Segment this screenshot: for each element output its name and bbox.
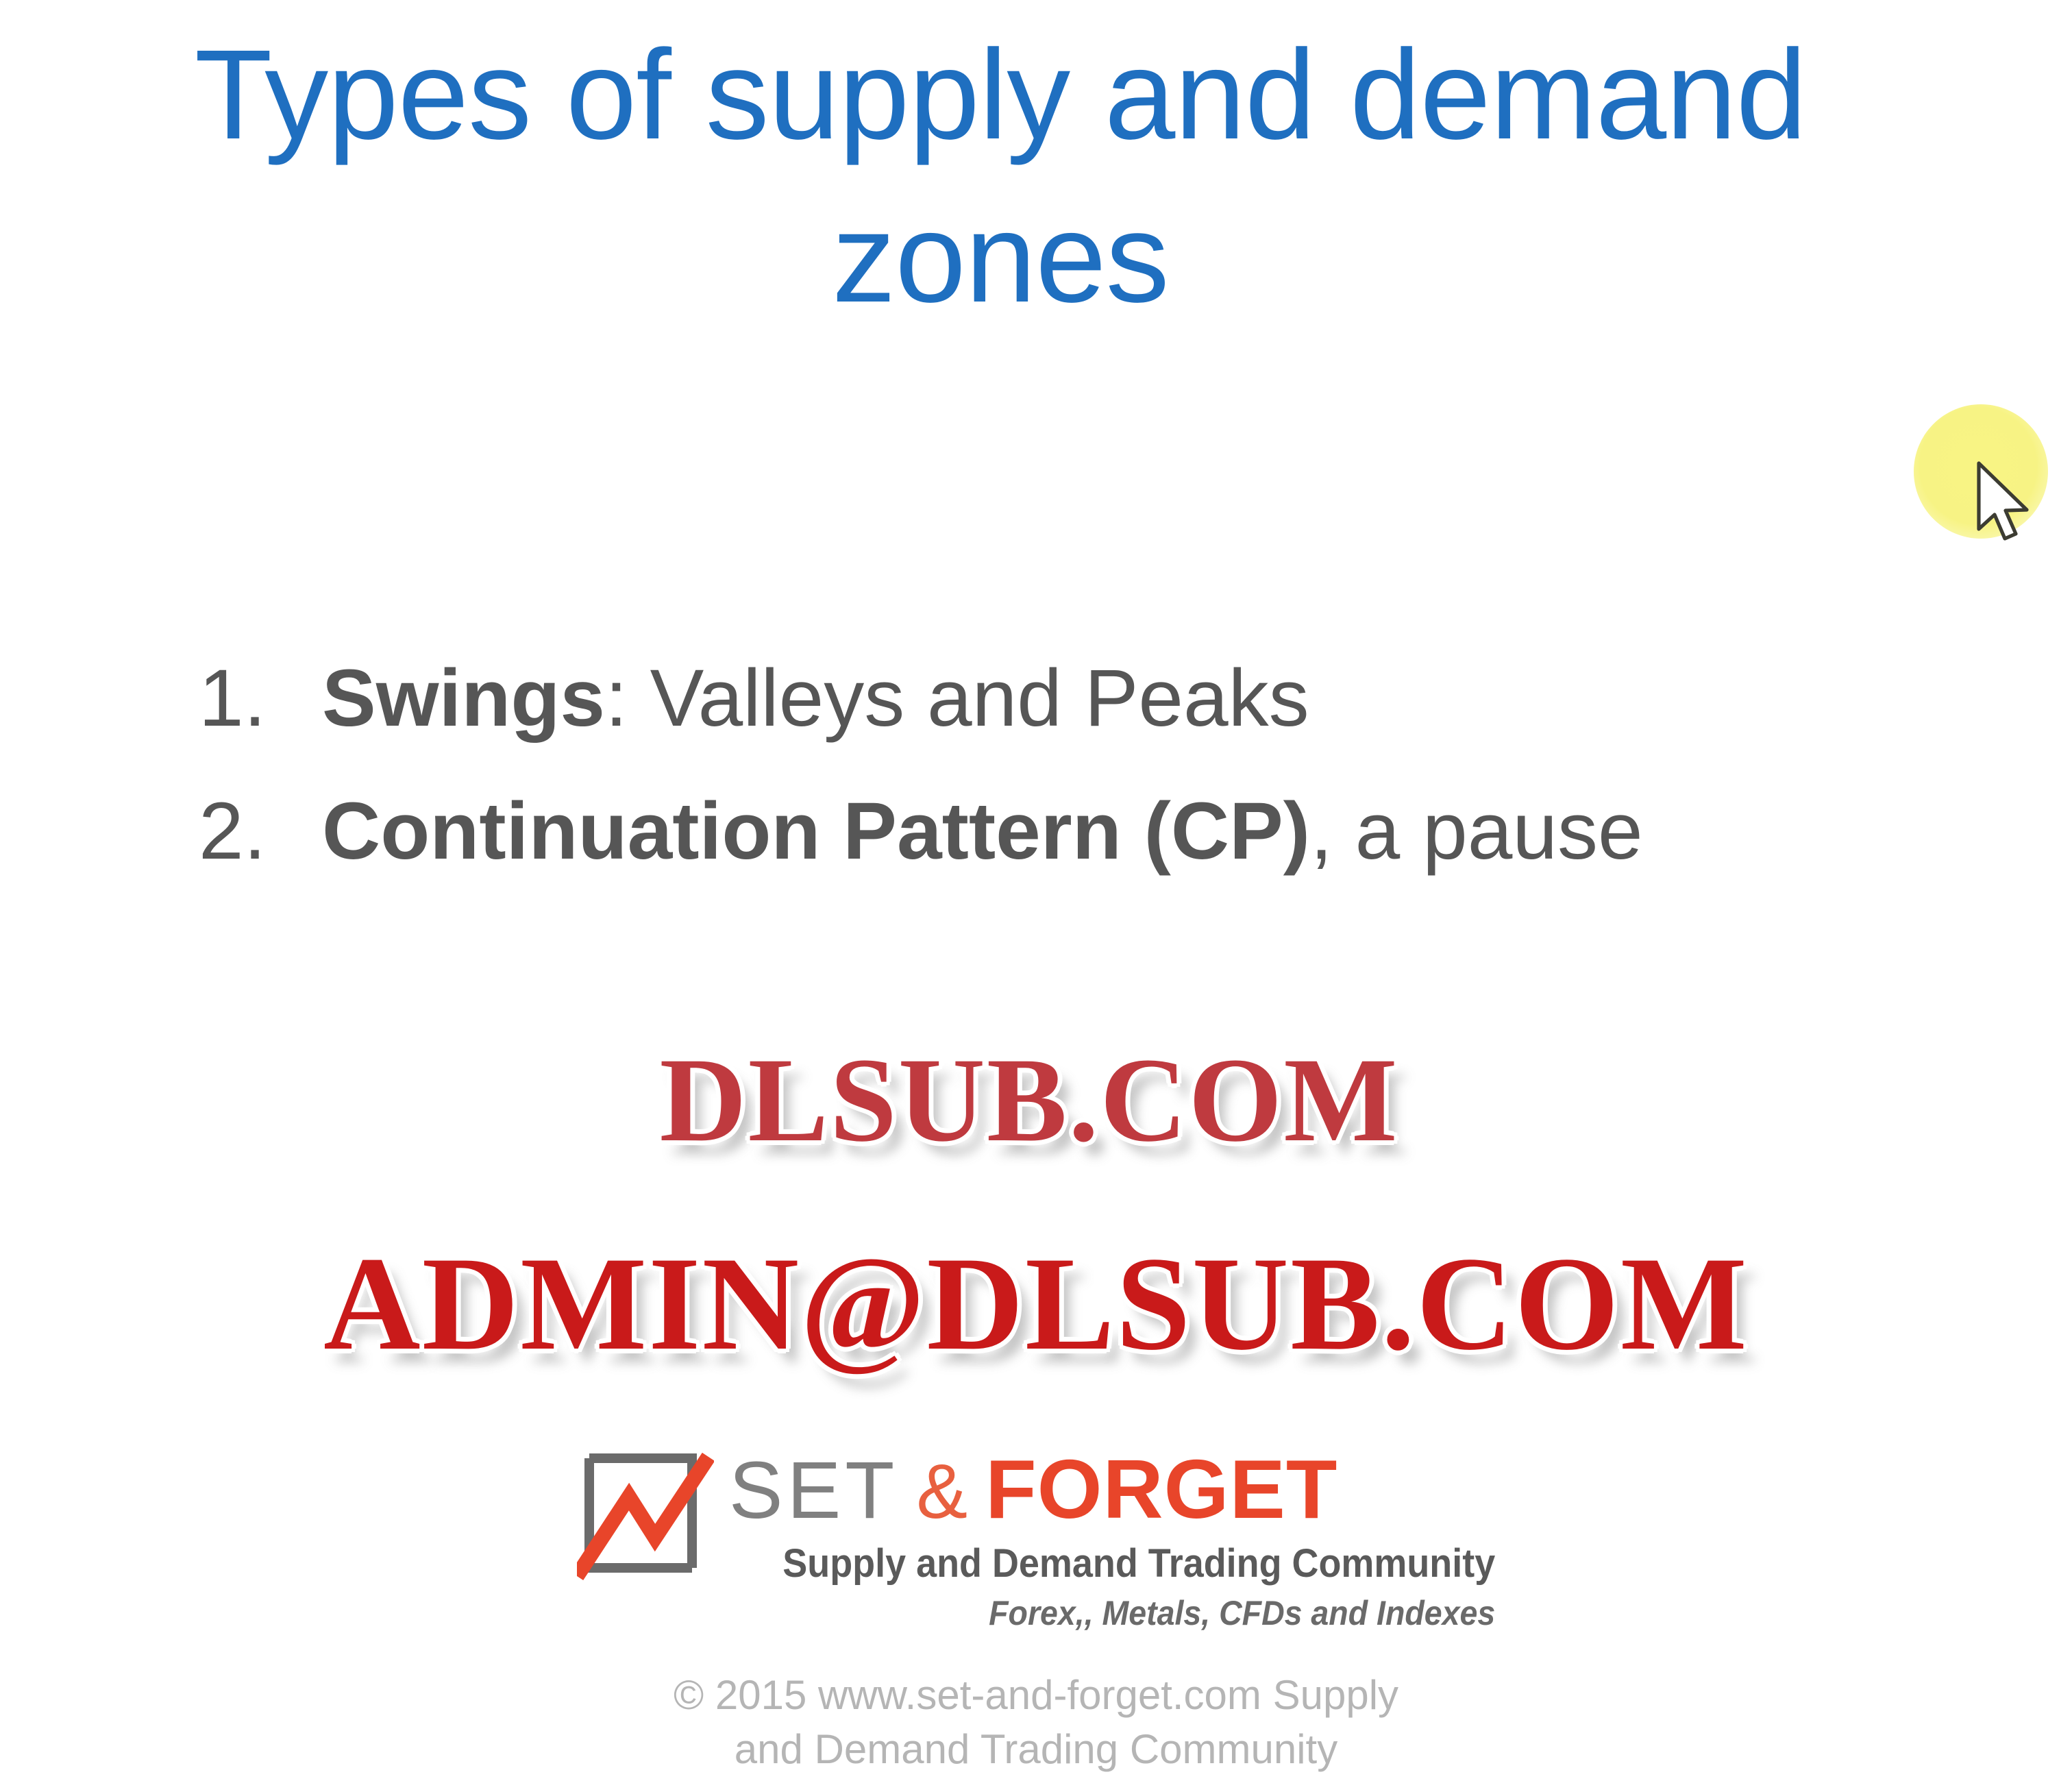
list-item-lead: Swings [322, 653, 605, 744]
logo-subtagline: Forex,, Metals, CFDs and Indexes [782, 1593, 1495, 1633]
logo-word-ampersand: & [916, 1453, 967, 1530]
logo-word-set: SET [729, 1450, 899, 1531]
logo-inner: SET & FORGET Supply and Demand Trading C… [577, 1447, 1495, 1633]
line-chart-icon [577, 1450, 714, 1582]
mouse-pointer-icon [1976, 460, 2039, 544]
list-item-rest: , a pause [1310, 786, 1642, 876]
slide-canvas: Types of supply and demand zones 1. Swin… [0, 0, 2072, 1781]
copyright-footer: © 2015 www.set-and-forget.com Supply and… [0, 1668, 2072, 1776]
list-item-lead: Continuation Pattern (CP) [322, 786, 1310, 876]
logo-wordmark: SET & FORGET [729, 1447, 1495, 1531]
list-item-number: 2. [199, 791, 322, 872]
list-item-text: Continuation Pattern (CP), a pause [322, 791, 1643, 872]
list-item-number: 1. [199, 658, 322, 739]
brand-logo: SET & FORGET Supply and Demand Trading C… [0, 1447, 2072, 1633]
watermark-site: DLSUB.COM [0, 1031, 2065, 1170]
page-title: Types of supply and demand zones [89, 14, 1912, 340]
copyright-line-2: and Demand Trading Community [0, 1722, 2072, 1776]
list-item: 1. Swings: Valleys and Peaks [199, 658, 1980, 739]
watermark-email: ADMIN@DLSUB.COM [0, 1227, 2072, 1381]
logo-word-forget: FORGET [985, 1447, 1337, 1531]
list-item: 2. Continuation Pattern (CP), a pause [199, 791, 1980, 872]
logo-text-block: SET & FORGET Supply and Demand Trading C… [729, 1447, 1495, 1633]
list-item-rest: : Valleys and Peaks [605, 653, 1309, 744]
page-title-line-1: Types of supply and demand [89, 14, 1912, 177]
list-item-text: Swings: Valleys and Peaks [322, 658, 1309, 739]
copyright-line-1: © 2015 www.set-and-forget.com Supply [0, 1668, 2072, 1722]
page-title-line-2: zones [89, 177, 1912, 340]
logo-tagline: Supply and Demand Trading Community [782, 1540, 1495, 1586]
zone-types-list: 1. Swings: Valleys and Peaks 2. Continua… [199, 658, 1980, 924]
